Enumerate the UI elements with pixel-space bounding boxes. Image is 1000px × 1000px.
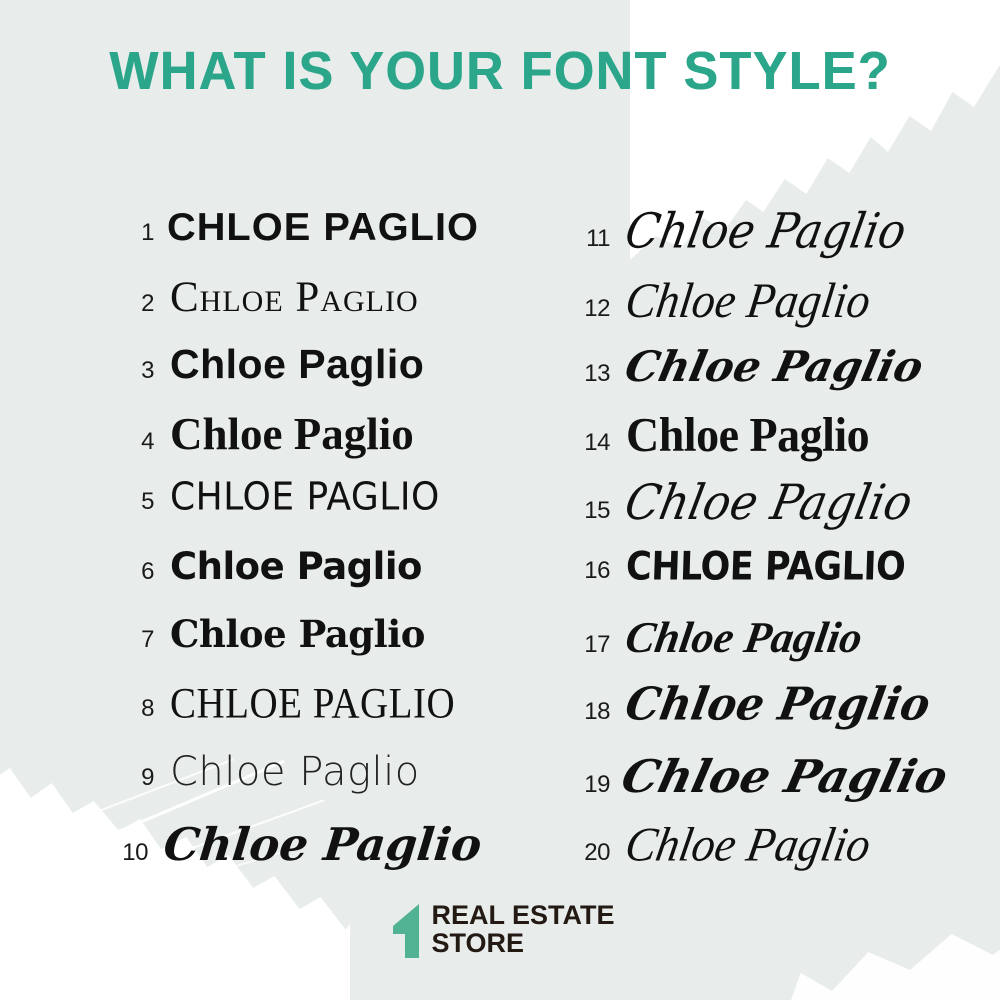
font-sample-number: 1 bbox=[108, 219, 154, 247]
font-sample-number: 20 bbox=[564, 839, 610, 867]
font-sample-text: Chloe Paglio bbox=[170, 752, 420, 792]
font-sample-number: 8 bbox=[108, 695, 154, 723]
font-sample-text: CHLOE PAGLIO bbox=[170, 479, 440, 517]
font-sample-text: Chloe Paglio bbox=[170, 276, 419, 319]
font-sample-text: CHLOE PAGLIO bbox=[625, 548, 905, 587]
font-sample-text: Chloe Paglio bbox=[170, 616, 425, 653]
font-sample-column-right: 11 Chloe Paglio 12 Chloe Paglio 13 Chloe… bbox=[500, 172, 1000, 852]
house-arrow-icon bbox=[385, 900, 419, 958]
font-sample-text: Chloe Paglio bbox=[170, 412, 414, 457]
font-sample-number: 6 bbox=[108, 558, 154, 586]
logo-wordmark: REAL ESTATE STORE bbox=[431, 901, 614, 958]
font-sample-text: CHLOE PAGLIO bbox=[167, 208, 479, 247]
font-sample-number: 5 bbox=[108, 488, 154, 516]
font-sample-text: Chloe Paglio bbox=[622, 208, 910, 256]
font-sample-text: Chloe Paglio bbox=[622, 346, 927, 388]
font-sample-text: CHLOE PAGLIO bbox=[170, 682, 455, 726]
font-sample-text: Chloe Paglio bbox=[623, 616, 866, 660]
font-sample-text: Chloe Paglio bbox=[622, 683, 933, 728]
font-sample-number: 13 bbox=[564, 360, 610, 388]
logo-lockup: REAL ESTATE STORE bbox=[385, 900, 614, 958]
font-sample-text: Chloe Paglio bbox=[162, 822, 484, 867]
font-sample-list: 1 CHLOE PAGLIO 2 Chloe Paglio 3 Chloe Pa… bbox=[0, 172, 1000, 852]
font-sample-number: 15 bbox=[564, 497, 610, 525]
font-sample-text: Chloe Paglio bbox=[622, 821, 875, 869]
brush-stroke-top-right-secondary bbox=[750, 0, 1000, 40]
font-sample-text: Chloe Paglio bbox=[623, 276, 874, 326]
font-sample-number: 2 bbox=[108, 290, 154, 318]
font-sample-number: 16 bbox=[564, 557, 610, 585]
font-sample-text: Chloe Paglio bbox=[626, 411, 869, 459]
logo-line-2: STORE bbox=[431, 929, 614, 957]
font-sample-number: 12 bbox=[564, 295, 610, 323]
font-sample-number: 17 bbox=[564, 631, 610, 659]
poster-canvas: WHAT IS YOUR FONT STYLE? 1 CHLOE PAGLIO … bbox=[0, 0, 1000, 1000]
font-sample-number: 7 bbox=[108, 626, 154, 654]
logo-line-1: REAL ESTATE bbox=[431, 901, 614, 929]
font-sample-number: 19 bbox=[564, 771, 610, 799]
font-sample-number: 11 bbox=[564, 225, 610, 253]
font-sample-column-left: 1 CHLOE PAGLIO 2 Chloe Paglio 3 Chloe Pa… bbox=[0, 172, 500, 852]
footer-logo: REAL ESTATE STORE bbox=[0, 900, 1000, 958]
font-sample-text: Chloe Paglio bbox=[170, 344, 424, 385]
font-sample-text: Chloe Paglio bbox=[618, 754, 952, 799]
font-sample-text: Chloe Paglio bbox=[170, 548, 422, 585]
font-sample-number: 9 bbox=[108, 764, 154, 792]
font-sample-number: 14 bbox=[564, 429, 610, 457]
font-sample-number: 10 bbox=[102, 839, 148, 867]
font-sample-text: Chloe Paglio bbox=[621, 478, 916, 527]
font-sample-number: 3 bbox=[108, 357, 154, 385]
page-title: WHAT IS YOUR FONT STYLE? bbox=[20, 40, 980, 102]
font-sample-number: 4 bbox=[108, 428, 154, 456]
font-sample-number: 18 bbox=[564, 698, 610, 726]
